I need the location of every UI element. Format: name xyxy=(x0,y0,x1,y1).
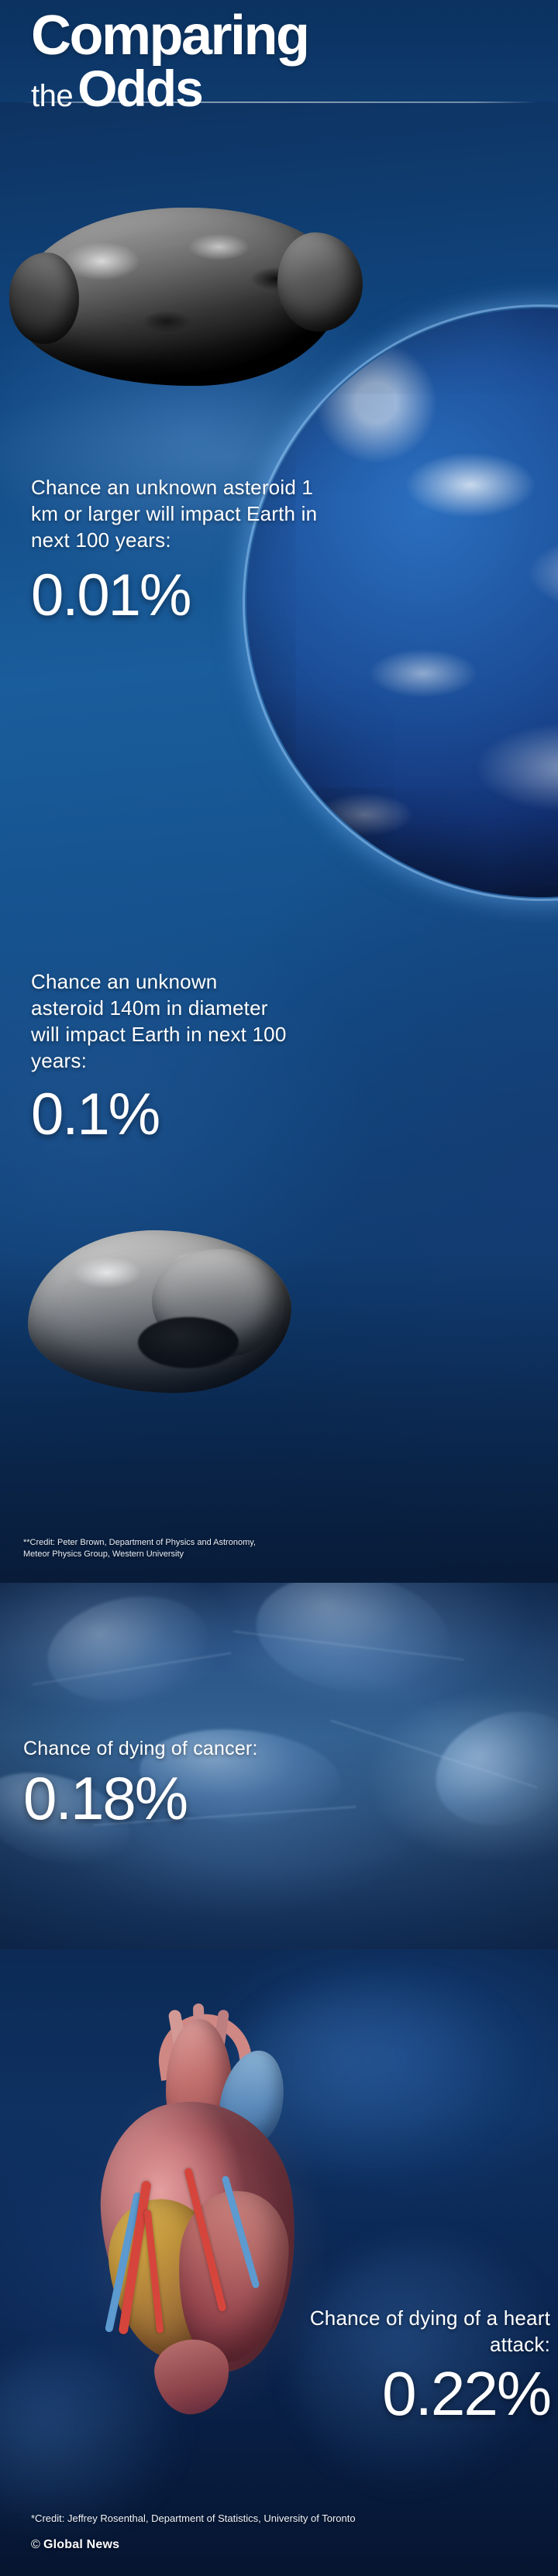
stat-block-cancer: Chance of dying of cancer: 0.18% xyxy=(23,1735,349,1831)
asteroid-credit-line-1: **Credit: Peter Brown, Department of Phy… xyxy=(23,1537,395,1549)
stat-value: 0.22% xyxy=(256,2361,550,2427)
header-divider xyxy=(22,101,536,103)
stat-block-asteroid-1km: Chance an unknown asteroid 1 km or large… xyxy=(31,474,341,629)
stat-value: 0.01% xyxy=(31,562,341,629)
stat-value: 0.18% xyxy=(23,1765,349,1831)
asteroid-icon-large-nose xyxy=(277,232,363,332)
header-band: Comparing theOdds xyxy=(0,0,558,102)
asteroid-icon-large-tail xyxy=(9,253,79,344)
asteroid-credit-line-2: Meteor Physics Group, Western University xyxy=(23,1549,395,1560)
brand-name: Global News xyxy=(43,2538,119,2551)
page-title-line-1: Comparing xyxy=(31,6,527,65)
page-title-the: the xyxy=(31,79,73,113)
stat-block-asteroid-140m: Chance an unknown asteroid 140m in diame… xyxy=(31,968,287,1148)
stat-value: 0.1% xyxy=(31,1082,287,1148)
stat-block-heart-attack: Chance of dying of a heart attack: 0.22% xyxy=(256,2305,550,2427)
page-title-line-2: theOdds xyxy=(31,60,527,131)
asteroid-credit: **Credit: Peter Brown, Department of Phy… xyxy=(23,1537,395,1560)
stats-credit: *Credit: Jeffrey Rosenthal, Department o… xyxy=(31,2512,542,2524)
page-title: Comparing theOdds xyxy=(31,6,527,131)
stat-caption: Chance an unknown asteroid 1 km or large… xyxy=(31,474,341,553)
page-title-odds: Odds xyxy=(77,60,202,117)
brand-footer: ©Global News xyxy=(31,2538,119,2552)
space-section: Comparing theOdds Chance an unknown aste… xyxy=(0,0,558,1583)
stat-caption: Chance of dying of cancer: xyxy=(23,1735,349,1762)
copyright-icon: © xyxy=(31,2538,40,2551)
atmospheric-haze-lower xyxy=(0,1255,558,1583)
stat-caption: Chance an unknown asteroid 140m in diame… xyxy=(31,968,287,1074)
stat-caption: Chance of dying of a heart attack: xyxy=(256,2305,550,2358)
